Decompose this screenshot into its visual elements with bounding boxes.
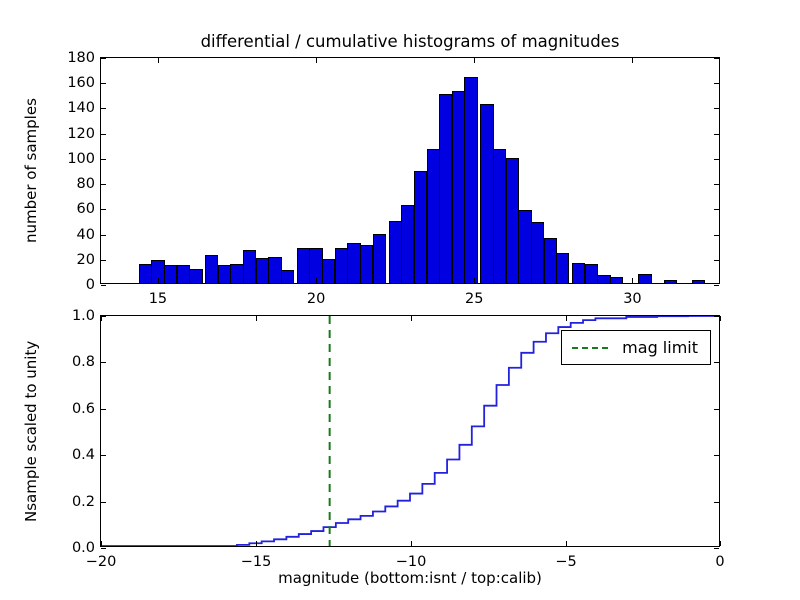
histogram-bar [464,77,477,283]
top-axes-differential-histogram: differential / cumulative histograms of … [100,57,720,284]
y-tick [714,108,719,109]
y-ticklabel: 0.6 [53,401,95,417]
x-ticklabel: 15 [149,291,167,307]
y-ticklabel: 0 [53,277,95,293]
histogram-bar [256,258,269,283]
figure-canvas: differential / cumulative histograms of … [0,0,800,600]
histogram-bar [268,257,281,283]
x-tick [256,541,257,546]
histogram-bar [230,264,243,283]
x-ticklabel: 0 [715,554,724,570]
x-tick [632,58,633,63]
y-tick [714,285,719,286]
x-ticklabel: −10 [396,554,427,570]
histogram-bar [597,275,610,283]
histogram-bar [164,265,177,283]
histogram-bar [518,210,531,283]
histogram-bar [452,91,465,283]
y-tick [101,159,106,160]
histogram-bar [297,248,310,283]
histogram-bar [177,265,190,283]
histogram-bar [218,265,231,283]
x-tick [632,278,633,283]
histogram-bar [585,264,598,283]
histogram-bar [531,222,544,283]
x-tick [158,278,159,283]
histogram-bar [544,238,557,283]
histogram-bar [139,264,152,283]
histogram-bar [572,263,585,283]
x-tick [411,316,412,321]
x-tick [720,316,721,321]
x-tick [158,58,159,63]
x-tick [411,541,412,546]
y-tick [101,260,106,261]
x-tick [256,316,257,321]
x-ticklabel: 25 [465,291,483,307]
y-tick [714,83,719,84]
y-tick [714,260,719,261]
histogram-bar [493,149,506,283]
y-tick [714,548,719,549]
legend-label-mag-limit: mag limit [622,338,698,357]
y-tick [714,409,719,410]
y-tick [101,184,106,185]
x-tick [566,316,567,321]
y-ticklabel: 80 [53,176,95,192]
legend[interactable]: mag limit [561,330,711,365]
figure-xlabel: magnitude (bottom:isnt / top:calib) [100,569,720,587]
x-tick [474,58,475,63]
histogram-bar [205,255,218,283]
x-ticklabel: −15 [241,554,272,570]
y-ticklabel: 160 [53,75,95,91]
x-ticklabel: 30 [623,291,641,307]
y-tick [101,409,106,410]
x-tick [316,278,317,283]
y-tick [101,209,106,210]
y-ticklabel: 140 [53,100,95,116]
histogram-bar [189,269,202,283]
y-tick [101,502,106,503]
y-tick [101,134,106,135]
histogram-bar [439,94,452,283]
y-ticklabel: 40 [53,227,95,243]
x-tick [316,58,317,63]
y-ticklabel: 180 [53,50,95,66]
y-tick [101,548,106,549]
y-tick [101,316,106,317]
histogram-bar [389,221,402,283]
top-ylabel: number of samples [22,98,40,243]
y-tick [714,159,719,160]
histogram-bar [556,253,569,283]
histogram-bar [347,243,360,283]
x-ticklabel: −5 [555,554,576,570]
histogram-bar [638,274,651,283]
y-ticklabel: 60 [53,201,95,217]
y-ticklabel: 120 [53,126,95,142]
y-ticklabel: 1.0 [53,308,95,324]
page-title: differential / cumulative histograms of … [101,32,719,51]
y-tick [714,209,719,210]
y-tick [101,455,106,456]
x-tick [474,278,475,283]
y-tick [101,362,106,363]
histogram-bar [692,280,705,283]
histogram-bar [506,158,519,283]
y-ticklabel: 0.2 [53,494,95,510]
y-tick [101,235,106,236]
y-ticklabel: 0.4 [53,447,95,463]
x-tick [566,541,567,546]
y-tick [101,108,106,109]
y-tick [714,235,719,236]
histogram-bar [414,171,427,283]
bottom-ylabel: Nsample scaled to unity [22,340,40,521]
histogram-bar [243,250,256,283]
y-tick [101,83,106,84]
y-ticklabel: 20 [53,252,95,268]
histogram-bar [480,104,493,283]
histogram-bar [427,149,440,283]
y-tick [714,58,719,59]
histogram-bar [281,270,294,283]
y-ticklabel: 0.8 [53,354,95,370]
bottom-axes-cumulative-histogram: −20−15−10−500.00.20.40.60.81.0 mag limit [100,315,720,547]
y-tick [101,58,106,59]
x-tick [720,541,721,546]
y-tick [714,134,719,135]
y-tick [714,316,719,317]
x-ticklabel: −20 [86,554,117,570]
y-tick [714,184,719,185]
y-ticklabel: 100 [53,151,95,167]
y-tick [714,362,719,363]
y-tick [101,285,106,286]
histogram-bar [401,205,414,283]
histogram-bar [322,259,335,283]
histogram-bar [610,277,623,283]
histogram-bar [360,245,373,283]
top-plot-area [101,58,719,283]
y-tick [714,455,719,456]
y-tick [714,502,719,503]
y-ticklabel: 0.0 [53,540,95,556]
x-ticklabel: 20 [307,291,325,307]
histogram-bar [664,280,677,283]
histogram-bar [373,234,386,283]
x-tick [101,541,102,546]
mag-limit-line-swatch [572,347,608,349]
histogram-bar [335,248,348,283]
